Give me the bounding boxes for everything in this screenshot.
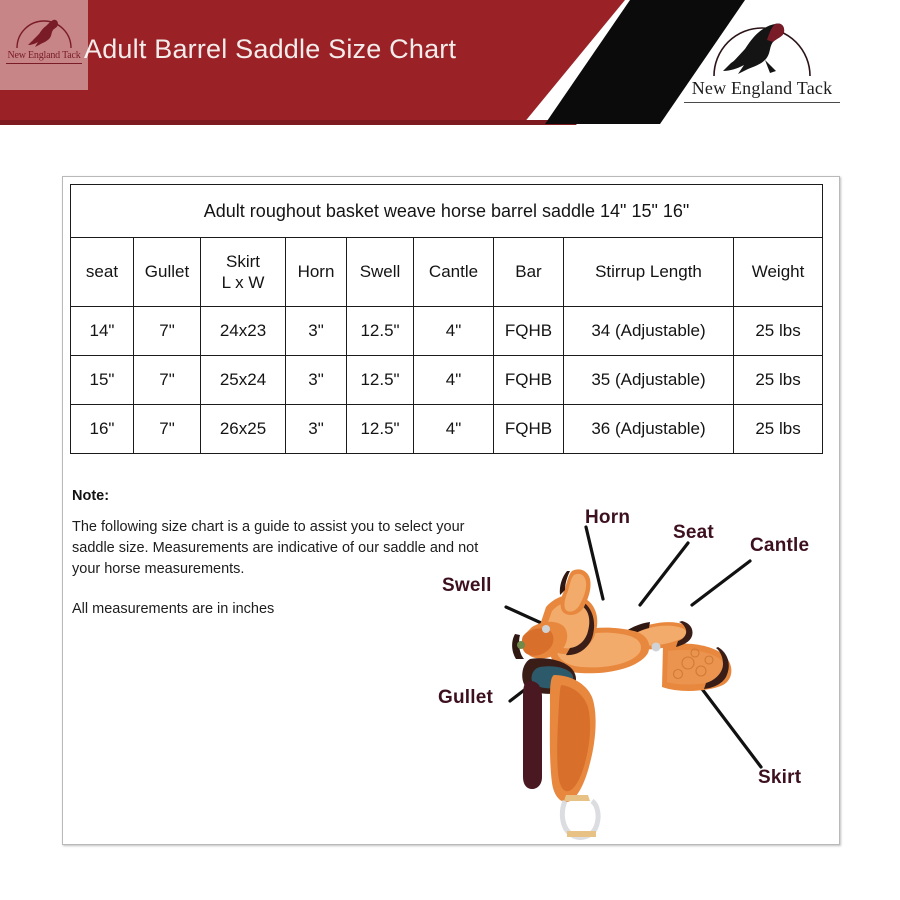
col-header-gullet: Gullet (134, 238, 201, 307)
label-cantle: Cantle (750, 535, 809, 557)
cell-gullet: 7" (134, 405, 201, 454)
label-horn: Horn (585, 507, 630, 529)
cell-swell: 12.5" (347, 405, 414, 454)
cell-seat: 16" (71, 405, 134, 454)
table-caption: Adult roughout basket weave horse barrel… (71, 185, 823, 238)
table-row: 14" 7" 24x23 3" 12.5" 4" FQHB 34 (Adjust… (71, 307, 823, 356)
cell-seat: 15" (71, 356, 134, 405)
table-row: 16" 7" 26x25 3" 12.5" 4" FQHB 36 (Adjust… (71, 405, 823, 454)
table-row: 15" 7" 25x24 3" 12.5" 4" FQHB 35 (Adjust… (71, 356, 823, 405)
cell-horn: 3" (286, 405, 347, 454)
cell-gullet: 7" (134, 356, 201, 405)
cell-seat: 14" (71, 307, 134, 356)
col-header-skirt-line2: L x W (201, 272, 285, 293)
label-gullet: Gullet (438, 687, 493, 709)
saddle-diagram: Horn Seat Cantle Swell Gullet Skirt (420, 495, 840, 840)
cell-bar: FQHB (494, 307, 564, 356)
table-caption-row: Adult roughout basket weave horse barrel… (71, 185, 823, 238)
cell-skirt: 24x23 (201, 307, 286, 356)
cell-stirrup: 36 (Adjustable) (564, 405, 734, 454)
cell-cantle: 4" (414, 356, 494, 405)
page-header: Adult Barrel Saddle Size Chart New Engla… (0, 0, 900, 128)
col-header-cantle: Cantle (414, 238, 494, 307)
cell-horn: 3" (286, 356, 347, 405)
cell-cantle: 4" (414, 405, 494, 454)
label-swell: Swell (442, 575, 492, 597)
cell-stirrup: 35 (Adjustable) (564, 356, 734, 405)
col-header-bar: Bar (494, 238, 564, 307)
col-header-horn: Horn (286, 238, 347, 307)
cell-weight: 25 lbs (734, 356, 823, 405)
cell-weight: 25 lbs (734, 405, 823, 454)
cell-bar: FQHB (494, 356, 564, 405)
cell-weight: 25 lbs (734, 307, 823, 356)
col-header-weight: Weight (734, 238, 823, 307)
col-header-swell: Swell (347, 238, 414, 307)
col-header-stirrup-length: Stirrup Length (564, 238, 734, 307)
col-header-seat: seat (71, 238, 134, 307)
logo-plate-wordmark: New England Tack (7, 50, 80, 61)
cell-horn: 3" (286, 307, 347, 356)
header-red-band-edge (0, 120, 580, 125)
cell-gullet: 7" (134, 307, 201, 356)
cell-skirt: 25x24 (201, 356, 286, 405)
cell-stirrup: 34 (Adjustable) (564, 307, 734, 356)
cell-swell: 12.5" (347, 356, 414, 405)
brand-rule (684, 102, 840, 103)
cell-swell: 12.5" (347, 307, 414, 356)
cell-cantle: 4" (414, 307, 494, 356)
table-header-row: seat Gullet Skirt L x W Horn Swell Cantl… (71, 238, 823, 307)
header-logo-plate: New England Tack (0, 0, 88, 90)
brand-logo: New England Tack (672, 16, 852, 110)
page-title: Adult Barrel Saddle Size Chart (84, 34, 456, 65)
col-header-skirt-line1: Skirt (201, 251, 285, 272)
brand-wordmark: New England Tack (672, 78, 852, 99)
saddle-size-table: Adult roughout basket weave horse barrel… (70, 184, 823, 454)
logo-plate-rule (6, 63, 82, 64)
col-header-skirt: Skirt L x W (201, 238, 286, 307)
label-skirt: Skirt (758, 767, 801, 789)
cell-skirt: 26x25 (201, 405, 286, 454)
label-seat: Seat (673, 522, 714, 544)
cell-bar: FQHB (494, 405, 564, 454)
horse-logo-icon (13, 14, 75, 55)
